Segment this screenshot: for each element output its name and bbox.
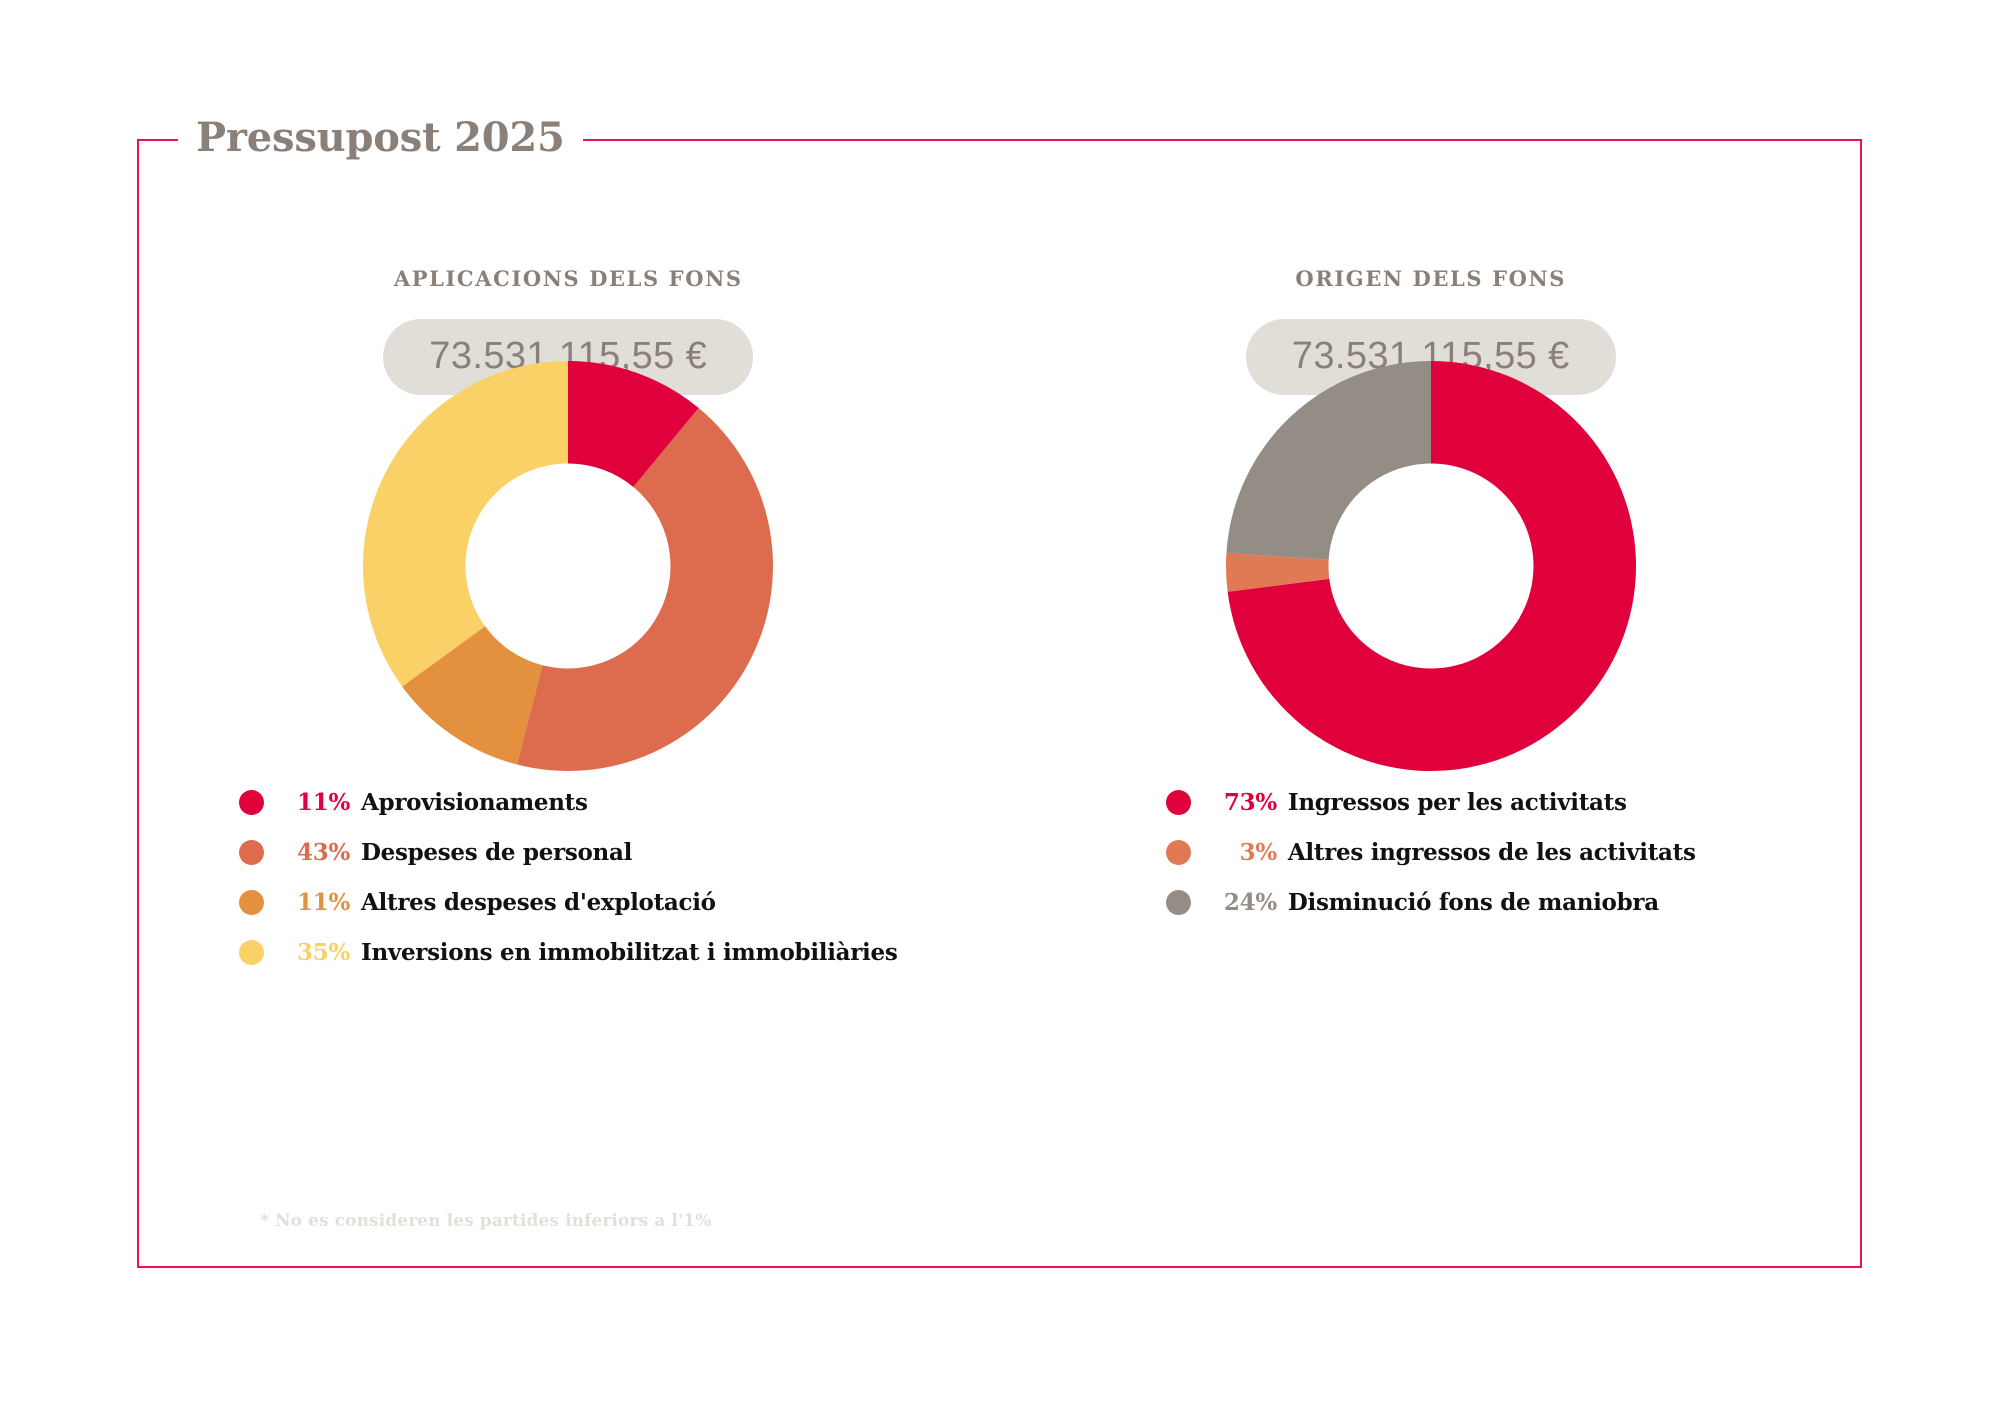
legend-percent: 11% bbox=[292, 789, 350, 816]
donut-chart-aplicacions bbox=[363, 361, 773, 771]
legend-color-dot bbox=[239, 940, 264, 965]
footnote: * No es consideren les partides inferior… bbox=[260, 1211, 711, 1231]
legend-item: 35%Inversions en immobilitzat i immobili… bbox=[239, 937, 897, 967]
panel-heading-aplicacions: APLICACIONS DELS FONS bbox=[137, 266, 1000, 291]
legend-label: Ingressos per les activitats bbox=[1288, 789, 1627, 816]
donut-chart-origen bbox=[1226, 361, 1636, 771]
page-title-text: Pressupost 2025 bbox=[196, 118, 565, 158]
donut-slice bbox=[1226, 361, 1431, 560]
legend-color-dot bbox=[1166, 890, 1191, 915]
legend-percent: 11% bbox=[292, 889, 350, 916]
panel-title-text: APLICACIONS DELS FONS bbox=[394, 266, 743, 291]
legend-label: Altres ingressos de les activitats bbox=[1288, 839, 1696, 866]
legend-item: 11%Aprovisionaments bbox=[239, 787, 897, 817]
panel-aplicacions: APLICACIONS DELS FONS 73.531.115,55 € 11… bbox=[137, 139, 1000, 1268]
legend-label: Disminució fons de maniobra bbox=[1288, 889, 1659, 916]
legend-label: Inversions en immobilitzat i immobiliàri… bbox=[361, 939, 897, 966]
legend-label: Altres despeses d'explotació bbox=[361, 889, 716, 916]
legend-item: 43%Despeses de personal bbox=[239, 837, 897, 867]
infographic-page: Pressupost 2025 APLICACIONS DELS FONS 73… bbox=[0, 0, 2000, 1414]
legend-label: Despeses de personal bbox=[361, 839, 632, 866]
legend-percent: 43% bbox=[292, 839, 350, 866]
legend-item: 11%Altres despeses d'explotació bbox=[239, 887, 897, 917]
legend-item: 73%Ingressos per les activitats bbox=[1166, 787, 1696, 817]
legend-color-dot bbox=[239, 840, 264, 865]
legend-color-dot bbox=[1166, 790, 1191, 815]
legend-origen: 73%Ingressos per les activitats3%Altres … bbox=[1000, 787, 1863, 917]
donut-slice bbox=[363, 361, 568, 686]
legend-percent: 3% bbox=[1219, 839, 1277, 866]
legend-color-dot bbox=[239, 890, 264, 915]
panel-heading-origen: ORIGEN DELS FONS bbox=[1000, 266, 1863, 291]
legend-item: 24%Disminució fons de maniobra bbox=[1166, 887, 1696, 917]
legend-aplicacions: 11%Aprovisionaments43%Despeses de person… bbox=[137, 787, 1000, 967]
panels-container: APLICACIONS DELS FONS 73.531.115,55 € 11… bbox=[137, 139, 1862, 1268]
legend-percent: 35% bbox=[292, 939, 350, 966]
legend-percent: 73% bbox=[1219, 789, 1277, 816]
legend-label: Aprovisionaments bbox=[361, 789, 588, 816]
panel-origen: ORIGEN DELS FONS 73.531.115,55 € 73%Ingr… bbox=[1000, 139, 1863, 1268]
page-title: Pressupost 2025 bbox=[178, 106, 583, 170]
legend-color-dot bbox=[1166, 840, 1191, 865]
legend-item: 3%Altres ingressos de les activitats bbox=[1166, 837, 1696, 867]
legend-color-dot bbox=[239, 790, 264, 815]
panel-title-text: ORIGEN DELS FONS bbox=[1295, 266, 1566, 291]
legend-percent: 24% bbox=[1219, 889, 1277, 916]
